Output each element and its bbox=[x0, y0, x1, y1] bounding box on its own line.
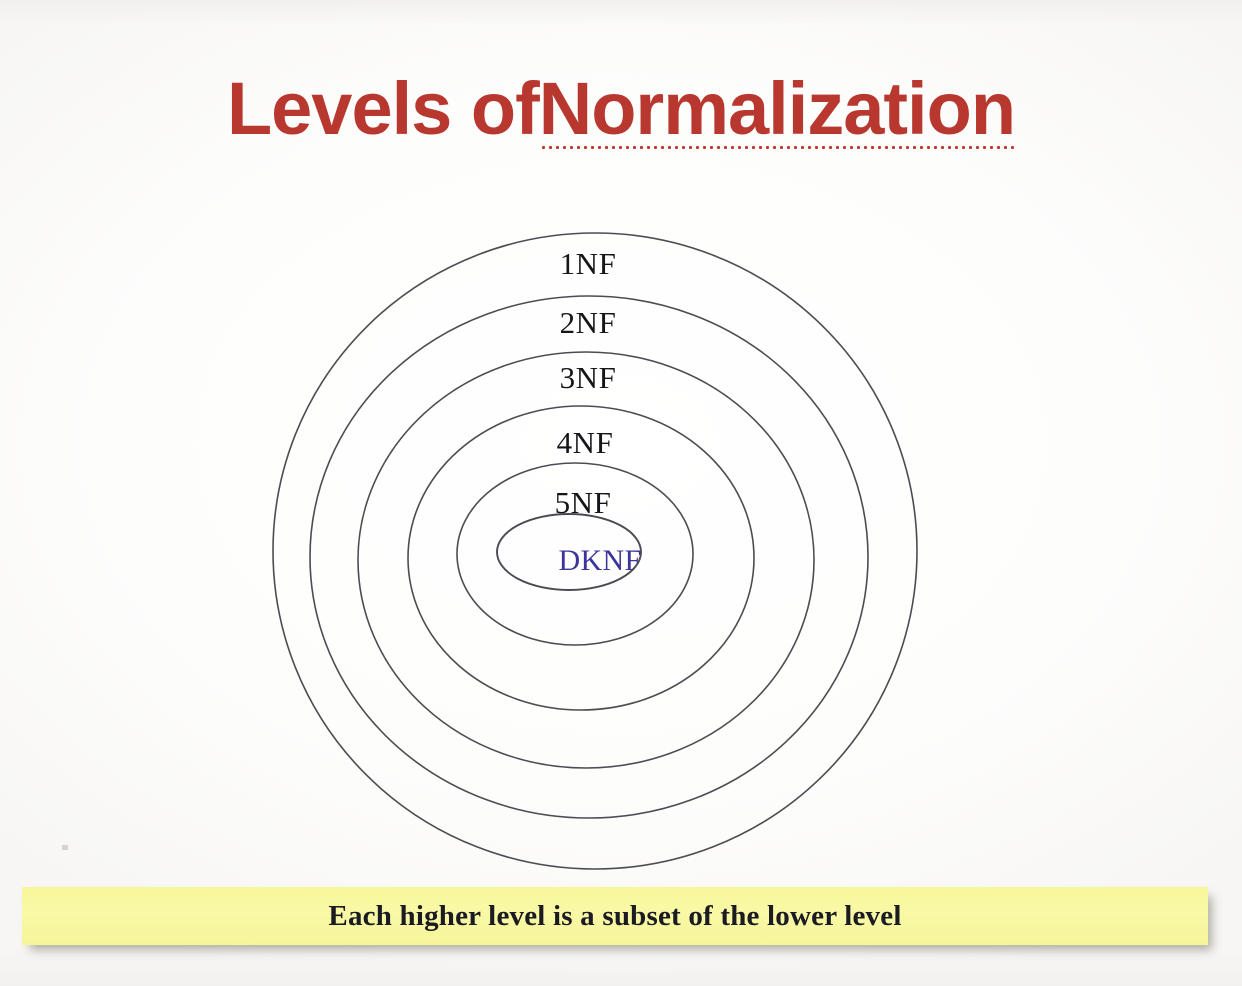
page-title-plain-segment: Levels of bbox=[227, 72, 539, 146]
ring-label-3nf: 3NF bbox=[560, 362, 617, 393]
bottom-edge-shading bbox=[0, 946, 1242, 986]
scan-speck bbox=[62, 845, 68, 850]
ring-label-1nf: 1NF bbox=[560, 248, 617, 279]
page-title: Levels of Normalization bbox=[0, 72, 1242, 146]
caption-text: Each higher level is a subset of the low… bbox=[328, 900, 901, 933]
ring-label-dknf: DKNF bbox=[559, 546, 642, 576]
slide-canvas: Levels of Normalization 1NF 2NF 3NF 4NF … bbox=[0, 0, 1242, 986]
ring-label-4nf: 4NF bbox=[557, 427, 614, 458]
top-edge-shading bbox=[0, 0, 1242, 26]
page-title-underlined-segment: Normalization bbox=[539, 72, 1015, 146]
caption-banner: Each higher level is a subset of the low… bbox=[22, 887, 1208, 945]
ring-label-2nf: 2NF bbox=[560, 307, 617, 338]
ring-label-5nf: 5NF bbox=[555, 487, 612, 518]
